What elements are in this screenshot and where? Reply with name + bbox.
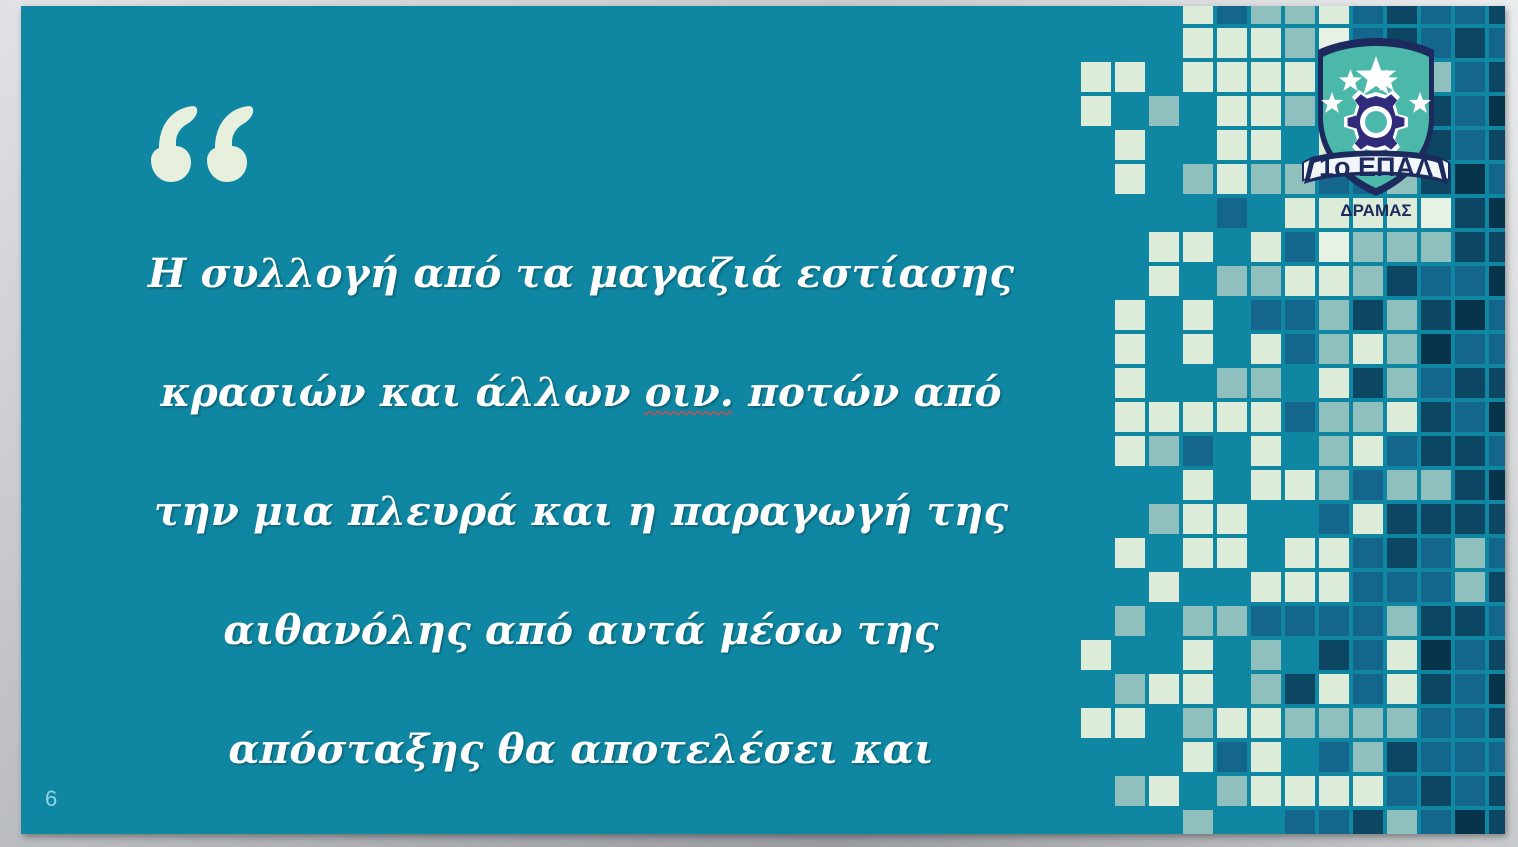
mosaic-cell	[1115, 674, 1145, 704]
mosaic-cell	[1387, 470, 1417, 500]
mosaic-cell	[1489, 504, 1505, 534]
mosaic-cell	[1489, 130, 1505, 160]
mosaic-cell	[1183, 402, 1213, 432]
mosaic-cell	[1489, 436, 1505, 466]
mosaic-cell	[1319, 606, 1349, 636]
mosaic-cell	[1489, 164, 1505, 194]
mosaic-cell	[1149, 436, 1179, 466]
mosaic-cell	[1489, 232, 1505, 262]
mosaic-cell	[1251, 402, 1281, 432]
mosaic-cell	[1353, 6, 1383, 24]
mosaic-cell	[1251, 96, 1281, 126]
mosaic-cell	[1353, 606, 1383, 636]
slide-frame: Η συλλογή από τα μαγαζιά εστίασης κρασιώ…	[0, 0, 1518, 847]
mosaic-cell	[1387, 640, 1417, 670]
mosaic-cell	[1217, 368, 1247, 398]
mosaic-cell	[1217, 708, 1247, 738]
mosaic-cell	[1319, 232, 1349, 262]
mosaic-cell	[1319, 402, 1349, 432]
mosaic-cell	[1387, 300, 1417, 330]
mosaic-cell	[1489, 606, 1505, 636]
mosaic-cell	[1489, 674, 1505, 704]
mosaic-cell	[1489, 334, 1505, 364]
mosaic-cell	[1421, 504, 1451, 534]
mosaic-cell	[1081, 708, 1111, 738]
mosaic-cell	[1217, 96, 1247, 126]
mosaic-cell	[1115, 164, 1145, 194]
mosaic-cell	[1183, 538, 1213, 568]
logo-banner-text: 1ο ΕΠΑΛ	[1319, 152, 1433, 182]
mosaic-cell	[1285, 606, 1315, 636]
mosaic-cell	[1285, 776, 1315, 806]
mosaic-cell	[1455, 232, 1485, 262]
mosaic-cell	[1115, 436, 1145, 466]
school-logo: 1ο ΕΠΑΛ ΔΡΑΜΑΣ	[1296, 26, 1456, 221]
mosaic-cell	[1455, 28, 1485, 58]
quote-line-2-before: κρασιών και άλλων	[160, 368, 644, 416]
mosaic-cell	[1387, 538, 1417, 568]
mosaic-cell	[1285, 674, 1315, 704]
mosaic-cell	[1183, 334, 1213, 364]
mosaic-cell	[1183, 708, 1213, 738]
mosaic-cell	[1421, 674, 1451, 704]
mosaic-cell	[1455, 6, 1485, 24]
mosaic-cell	[1217, 742, 1247, 772]
mosaic-cell	[1115, 368, 1145, 398]
mosaic-cell	[1251, 62, 1281, 92]
mosaic-cell	[1455, 538, 1485, 568]
mosaic-cell	[1217, 28, 1247, 58]
mosaic-cell	[1251, 164, 1281, 194]
mosaic-cell	[1149, 572, 1179, 602]
mosaic-cell	[1455, 368, 1485, 398]
mosaic-cell	[1455, 266, 1485, 296]
mosaic-cell	[1353, 368, 1383, 398]
mosaic-cell	[1251, 334, 1281, 364]
mosaic-cell	[1285, 300, 1315, 330]
mosaic-cell	[1455, 776, 1485, 806]
mosaic-cell	[1387, 334, 1417, 364]
mosaic-cell	[1353, 232, 1383, 262]
mosaic-cell	[1387, 776, 1417, 806]
mosaic-cell	[1081, 62, 1111, 92]
mosaic-cell	[1455, 504, 1485, 534]
mosaic-cell	[1489, 266, 1505, 296]
mosaic-cell	[1353, 538, 1383, 568]
mosaic-cell	[1421, 810, 1451, 834]
mosaic-cell	[1319, 572, 1349, 602]
mosaic-cell	[1353, 300, 1383, 330]
mosaic-cell	[1149, 232, 1179, 262]
mosaic-cell	[1489, 538, 1505, 568]
mosaic-cell	[1387, 6, 1417, 24]
mosaic-cell	[1183, 300, 1213, 330]
mosaic-cell	[1115, 334, 1145, 364]
mosaic-cell	[1319, 266, 1349, 296]
quote-line-4: αιθανόλης από αυτά μέσω της	[141, 601, 1021, 661]
mosaic-cell	[1387, 402, 1417, 432]
opening-quote-icon	[149, 102, 259, 192]
mosaic-cell	[1217, 130, 1247, 160]
mosaic-cell	[1489, 6, 1505, 24]
mosaic-cell	[1217, 504, 1247, 534]
mosaic-cell	[1285, 470, 1315, 500]
mosaic-cell	[1251, 776, 1281, 806]
mosaic-cell	[1387, 810, 1417, 834]
mosaic-cell	[1115, 538, 1145, 568]
mosaic-cell	[1319, 470, 1349, 500]
mosaic-cell	[1183, 504, 1213, 534]
mosaic-cell	[1285, 334, 1315, 364]
mosaic-cell	[1353, 572, 1383, 602]
mosaic-cell	[1421, 368, 1451, 398]
mosaic-cell	[1421, 742, 1451, 772]
mosaic-cell	[1251, 606, 1281, 636]
mosaic-cell	[1489, 368, 1505, 398]
mosaic-cell	[1421, 470, 1451, 500]
mosaic-cell	[1353, 708, 1383, 738]
mosaic-cell	[1285, 232, 1315, 262]
mosaic-cell	[1183, 742, 1213, 772]
mosaic-cell	[1217, 538, 1247, 568]
mosaic-cell	[1387, 368, 1417, 398]
mosaic-cell	[1489, 402, 1505, 432]
mosaic-cell	[1319, 6, 1349, 24]
mosaic-cell	[1421, 640, 1451, 670]
quote-block: Η συλλογή από τα μαγαζιά εστίασης κρασιώ…	[21, 6, 1061, 834]
mosaic-cell	[1149, 504, 1179, 534]
mosaic-cell	[1285, 538, 1315, 568]
mosaic-cell	[1319, 708, 1349, 738]
mosaic-cell	[1115, 776, 1145, 806]
page-number: 6	[45, 786, 58, 812]
mosaic-cell	[1489, 640, 1505, 670]
mosaic-cell	[1421, 776, 1451, 806]
mosaic-cell	[1421, 606, 1451, 636]
mosaic-cell	[1251, 742, 1281, 772]
mosaic-cell	[1183, 674, 1213, 704]
mosaic-cell	[1421, 572, 1451, 602]
mosaic-cell	[1353, 334, 1383, 364]
mosaic-cell	[1455, 96, 1485, 126]
mosaic-cell	[1115, 300, 1145, 330]
mosaic-cell	[1353, 810, 1383, 834]
mosaic-cell	[1217, 776, 1247, 806]
mosaic-cell	[1183, 62, 1213, 92]
mosaic-cell	[1489, 776, 1505, 806]
mosaic-cell	[1319, 334, 1349, 364]
mosaic-cell	[1285, 266, 1315, 296]
mosaic-cell	[1387, 674, 1417, 704]
mosaic-cell	[1115, 402, 1145, 432]
mosaic-cell	[1285, 708, 1315, 738]
mosaic-cell	[1251, 708, 1281, 738]
mosaic-cell	[1353, 402, 1383, 432]
mosaic-cell	[1251, 28, 1281, 58]
mosaic-cell	[1455, 674, 1485, 704]
mosaic-cell	[1489, 96, 1505, 126]
logo-banner: 1ο ΕΠΑΛ	[1302, 151, 1450, 185]
mosaic-cell	[1455, 62, 1485, 92]
mosaic-cell	[1115, 130, 1145, 160]
mosaic-cell	[1251, 640, 1281, 670]
slide-canvas: Η συλλογή από τα μαγαζιά εστίασης κρασιώ…	[21, 6, 1505, 834]
mosaic-cell	[1421, 266, 1451, 296]
mosaic-cell	[1455, 436, 1485, 466]
quote-line-1: Η συλλογή από τα μαγαζιά εστίασης	[141, 244, 1021, 304]
mosaic-cell	[1149, 674, 1179, 704]
mosaic-cell	[1183, 232, 1213, 262]
mosaic-cell	[1421, 334, 1451, 364]
mosaic-cell	[1421, 6, 1451, 24]
mosaic-cell	[1319, 300, 1349, 330]
mosaic-cell	[1489, 300, 1505, 330]
mosaic-cell	[1353, 504, 1383, 534]
mosaic-cell	[1183, 470, 1213, 500]
quote-line-3: την μια πλευρά και η παραγωγή της	[141, 482, 1021, 542]
mosaic-cell	[1081, 96, 1111, 126]
mosaic-cell	[1489, 810, 1505, 834]
mosaic-cell	[1489, 742, 1505, 772]
mosaic-cell	[1455, 640, 1485, 670]
quote-line-2-after: ποτών από	[734, 368, 1002, 416]
mosaic-cell	[1353, 470, 1383, 500]
mosaic-cell	[1115, 606, 1145, 636]
mosaic-cell	[1455, 334, 1485, 364]
mosaic-cell	[1455, 198, 1485, 228]
mosaic-cell	[1455, 810, 1485, 834]
mosaic-cell	[1217, 606, 1247, 636]
mosaic-cell	[1489, 572, 1505, 602]
mosaic-cell	[1455, 164, 1485, 194]
mosaic-cell	[1421, 300, 1451, 330]
mosaic-cell	[1149, 266, 1179, 296]
mosaic-cell	[1387, 232, 1417, 262]
mosaic-cell	[1319, 538, 1349, 568]
mosaic-cell	[1217, 266, 1247, 296]
mosaic-cell	[1353, 776, 1383, 806]
mosaic-cell	[1421, 232, 1451, 262]
mosaic-cell	[1319, 674, 1349, 704]
mosaic-cell	[1183, 810, 1213, 834]
mosaic-cell	[1387, 266, 1417, 296]
mosaic-cell	[1353, 436, 1383, 466]
mosaic-cell	[1489, 708, 1505, 738]
mosaic-cell	[1183, 640, 1213, 670]
quote-line-2: κρασιών και άλλων οιν. ποτών από	[141, 363, 1021, 423]
mosaic-cell	[1455, 300, 1485, 330]
quote-text: Η συλλογή από τα μαγαζιά εστίασης κρασιώ…	[141, 184, 1021, 834]
mosaic-cell	[1149, 776, 1179, 806]
mosaic-cell	[1251, 266, 1281, 296]
mosaic-cell	[1149, 96, 1179, 126]
mosaic-cell	[1285, 402, 1315, 432]
mosaic-cell	[1285, 572, 1315, 602]
mosaic-cell	[1353, 266, 1383, 296]
mosaic-cell	[1251, 300, 1281, 330]
mosaic-cell	[1251, 368, 1281, 398]
mosaic-cell	[1251, 674, 1281, 704]
mosaic-cell	[1319, 810, 1349, 834]
mosaic-cell	[1353, 674, 1383, 704]
mosaic-cell	[1353, 742, 1383, 772]
mosaic-cell	[1081, 640, 1111, 670]
mosaic-cell	[1319, 776, 1349, 806]
mosaic-cell	[1251, 470, 1281, 500]
mosaic-cell	[1387, 572, 1417, 602]
mosaic-cell	[1455, 402, 1485, 432]
mosaic-cell	[1455, 606, 1485, 636]
mosaic-cell	[1183, 436, 1213, 466]
mosaic-cell	[1421, 436, 1451, 466]
mosaic-cell	[1319, 368, 1349, 398]
mosaic-cell	[1387, 606, 1417, 636]
mosaic-cell	[1387, 436, 1417, 466]
mosaic-cell	[1387, 742, 1417, 772]
mosaic-cell	[1217, 6, 1247, 24]
mosaic-cell	[1251, 572, 1281, 602]
mosaic-cell	[1319, 742, 1349, 772]
mosaic-cell	[1319, 640, 1349, 670]
mosaic-cell	[1149, 402, 1179, 432]
mosaic-cell	[1183, 6, 1213, 24]
mosaic-cell	[1115, 708, 1145, 738]
logo-subtitle: ΔΡΑΜΑΣ	[1340, 201, 1411, 220]
mosaic-cell	[1455, 130, 1485, 160]
mosaic-cell	[1387, 504, 1417, 534]
mosaic-cell	[1421, 538, 1451, 568]
mosaic-cell	[1489, 28, 1505, 58]
mosaic-cell	[1455, 572, 1485, 602]
mosaic-cell	[1183, 28, 1213, 58]
mosaic-cell	[1387, 708, 1417, 738]
quote-line-5: απόσταξης θα αποτελέσει και	[141, 720, 1021, 780]
mosaic-cell	[1251, 232, 1281, 262]
mosaic-cell	[1217, 198, 1247, 228]
mosaic-cell	[1115, 62, 1145, 92]
mosaic-cell	[1421, 708, 1451, 738]
misspelled-word: οιν.	[645, 368, 734, 416]
mosaic-cell	[1217, 402, 1247, 432]
mosaic-cell	[1251, 436, 1281, 466]
mosaic-cell	[1319, 504, 1349, 534]
mosaic-cell	[1319, 436, 1349, 466]
mosaic-cell	[1421, 402, 1451, 432]
mosaic-cell	[1183, 606, 1213, 636]
mosaic-cell	[1455, 742, 1485, 772]
mosaic-cell	[1489, 198, 1505, 228]
mosaic-cell	[1251, 6, 1281, 24]
mosaic-cell	[1455, 470, 1485, 500]
mosaic-cell	[1217, 62, 1247, 92]
mosaic-cell	[1489, 470, 1505, 500]
mosaic-cell	[1251, 130, 1281, 160]
mosaic-cell	[1455, 708, 1485, 738]
mosaic-cell	[1183, 164, 1213, 194]
mosaic-cell	[1285, 6, 1315, 24]
mosaic-cell	[1285, 810, 1315, 834]
mosaic-cell	[1353, 640, 1383, 670]
mosaic-cell	[1217, 164, 1247, 194]
mosaic-cell	[1489, 62, 1505, 92]
